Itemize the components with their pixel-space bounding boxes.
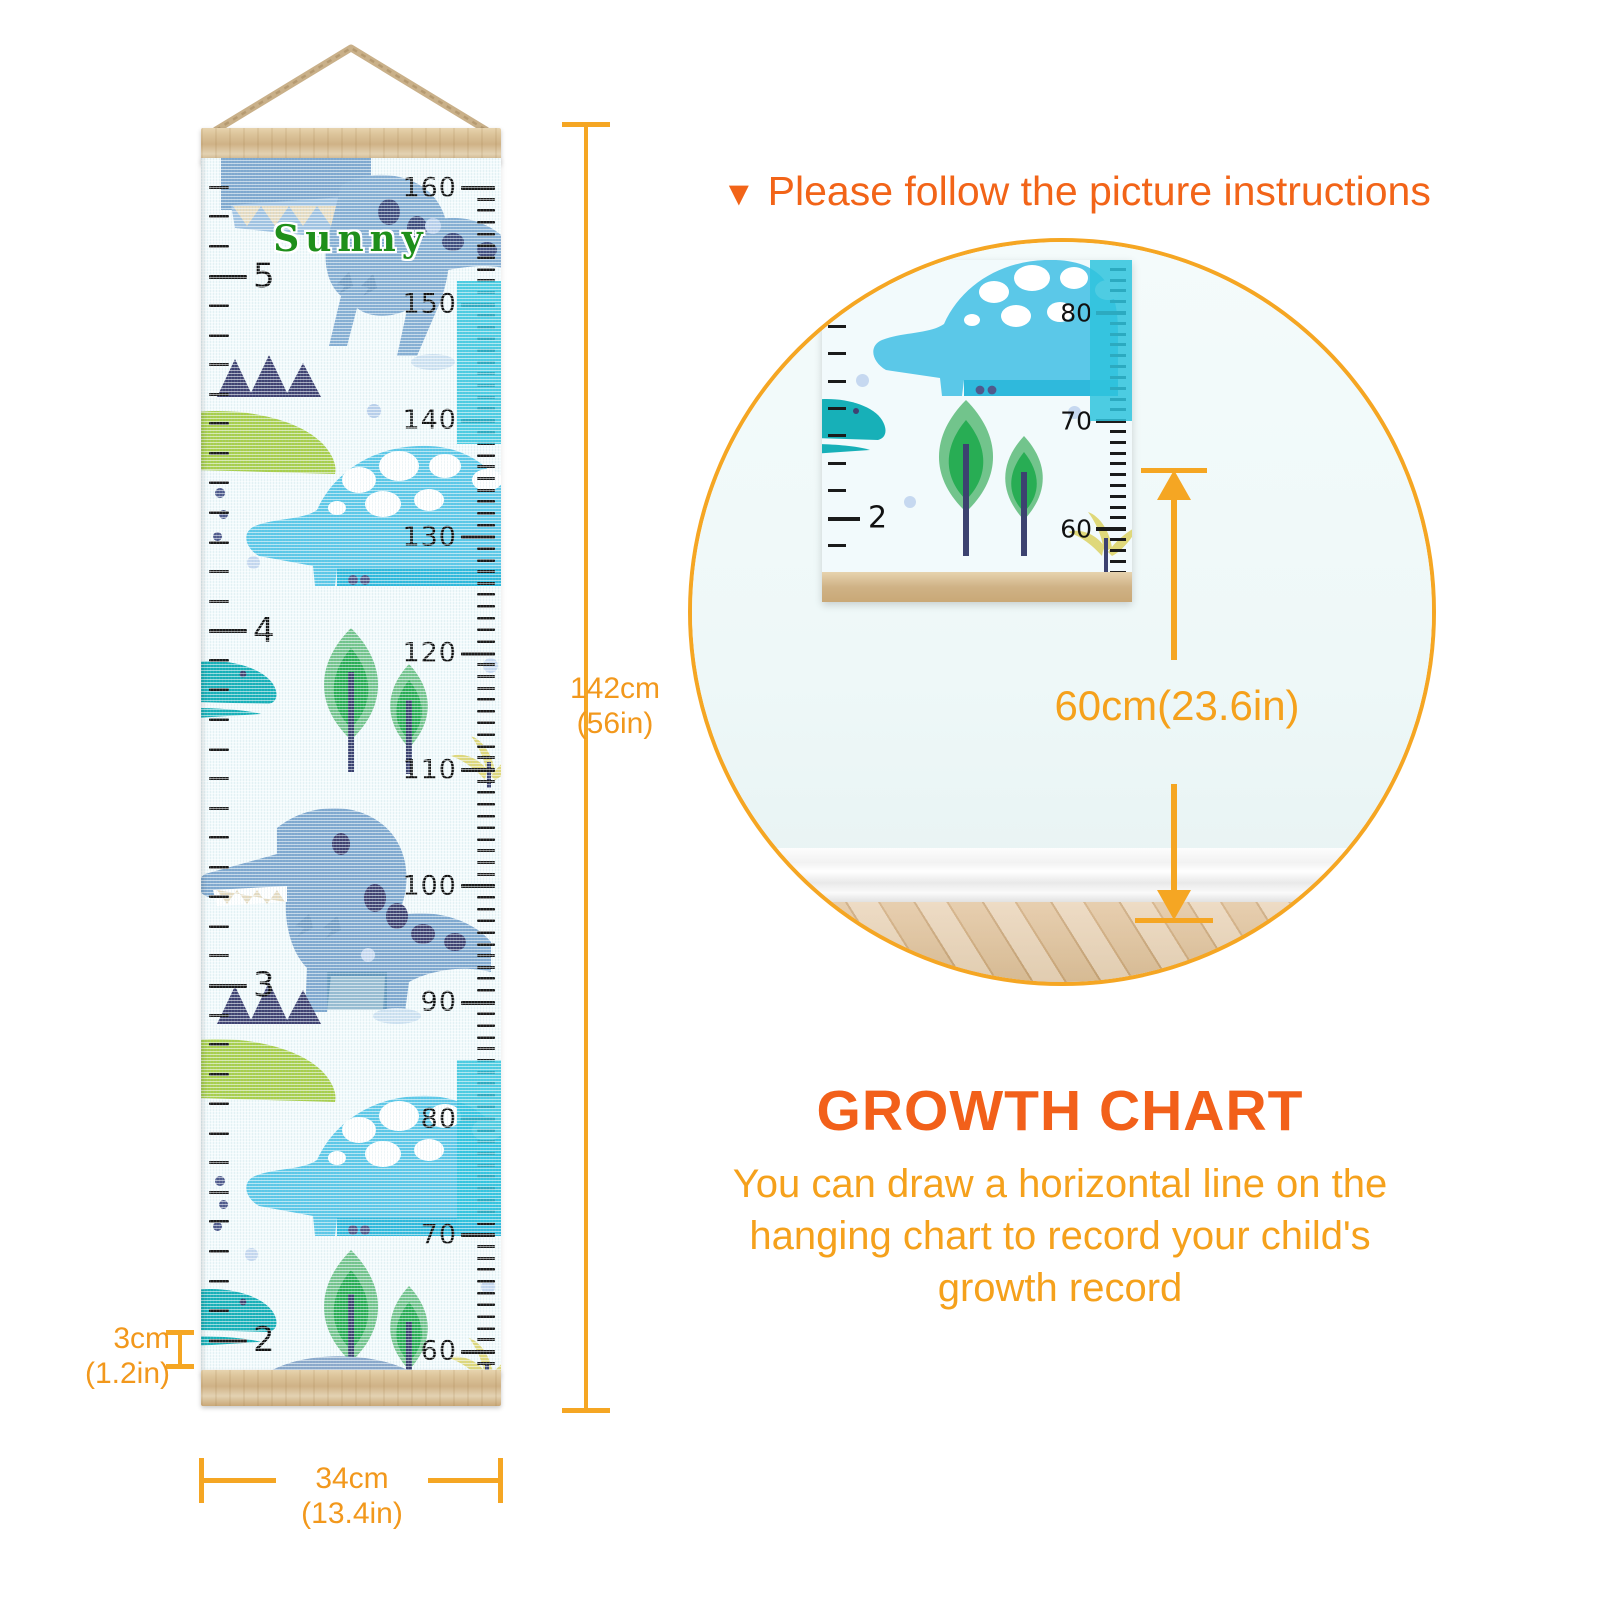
cm-tick-major [461,1233,495,1237]
inch-tick [828,380,846,383]
inch-tick [209,866,229,869]
ruler-teal-band [457,1060,501,1223]
inch-tick [209,600,229,603]
cm-tick-major [461,1350,495,1354]
cm-tick-minor [477,954,495,957]
cm-tick-minor [477,675,495,678]
cm-tick-minor [1110,516,1126,519]
decor-dot [361,948,375,962]
inch-tick [209,1102,229,1105]
growth-chart-canvas: Sunny 16015014013012011010090807060 5432 [201,158,501,1376]
inch-tick [209,452,229,455]
trees-art-inset [926,400,1056,570]
cm-tick-major [1096,527,1126,531]
inch-tick [209,363,229,366]
inch-tick [828,297,846,300]
cm-tick-minor [477,268,495,271]
cm-tick-minor [477,512,495,515]
feet-tick-major [209,1339,247,1343]
cm-tick-minor [477,1024,495,1027]
growth-chart-description: You can draw a horizontal line on the ha… [688,1158,1432,1314]
cm-tick-minor [477,721,495,724]
cm-label: 70 [421,1219,457,1250]
feet-tick-major [209,275,247,279]
cm-tick-minor [477,524,495,527]
inch-tick [209,1191,229,1194]
canvas-left-shadow [201,158,207,1376]
cm-tick-minor [477,745,495,748]
cm-tick-minor [477,1047,495,1050]
inch-tick [209,748,229,751]
inch-tick [209,393,229,396]
cm-ruler-inset: 807060 [1088,260,1132,602]
inch-tick [828,489,846,492]
inch-tick [828,270,846,273]
cm-tick-minor [477,593,495,596]
inch-tick [209,1220,229,1223]
inch-tick [209,334,229,337]
ruler-teal-band-inset [1090,260,1132,421]
feet-label: 5 [253,256,275,296]
cm-tick-minor [477,1315,495,1318]
width-dimension-label: 34cm (13.4in) [268,1462,436,1531]
feet-label-inset: 2 [868,501,887,536]
thickness-dimension-cap-top [166,1330,194,1335]
cm-tick-minor [477,582,495,585]
cm-tick-minor [1110,452,1126,455]
parquet-floor [692,902,1432,982]
cm-label: 150 [402,289,457,320]
inch-tick [828,352,846,355]
inch-tick [209,895,229,898]
cm-tick-minor [477,919,495,922]
inch-tick [209,304,229,307]
inch-tick [209,541,229,544]
cm-tick-minor [477,1012,495,1015]
inch-tick [828,462,846,465]
cm-tick-minor [477,198,495,201]
cm-label-inset: 60 [1060,514,1092,543]
cm-label: 60 [421,1336,457,1367]
cm-tick-minor [477,1280,495,1283]
cm-tick-minor [477,1292,495,1295]
cm-tick-minor [477,815,495,818]
cm-tick-minor [477,570,495,573]
inch-tick [209,659,229,662]
stegosaurus-art-inset [868,260,1118,404]
cm-label: 80 [421,1103,457,1134]
cm-tick-minor [477,477,495,480]
cm-tick-minor [477,756,495,759]
feet-ruler: 5432 [201,158,247,1376]
cm-tick-minor [477,628,495,631]
room-scene: 807060 2 60cm(23.6in) [692,242,1432,982]
cm-tick-minor [477,663,495,666]
cm-tick-minor [477,803,495,806]
inch-tick [828,325,846,328]
cm-tick-minor [477,791,495,794]
cm-tick-minor [477,966,495,969]
cm-label-inset: 80 [1060,298,1092,327]
inch-tick [209,807,229,810]
inch-tick [209,1073,229,1076]
inch-tick [209,688,229,691]
inch-tick [209,777,229,780]
growth-chart-title: GROWTH CHART [690,1078,1430,1144]
cm-tick-major [461,652,495,656]
inch-tick [209,925,229,928]
cm-tick-minor [477,209,495,212]
inch-tick [209,186,229,189]
feet-tick-major [209,629,247,633]
inch-tick [209,1014,229,1017]
cm-label: 160 [402,172,457,203]
cm-tick-minor [477,605,495,608]
height-dimension-line [584,122,588,1412]
baseboard [692,848,1432,904]
cm-tick-minor [477,733,495,736]
height-dimension-cap-bottom [562,1408,610,1413]
infographic-stage: Sunny 16015014013012011010090807060 5432… [0,0,1600,1600]
cm-tick-minor [477,1257,495,1260]
cm-tick-minor [477,1338,495,1341]
feet-ruler-inset: 2 [822,260,866,602]
instructions-headline: ▼Please follow the picture instructions [722,168,1532,215]
triangle-down-icon: ▼ [722,175,756,213]
inch-tick [209,954,229,957]
mount-arrow-head-down [1157,890,1191,920]
cm-tick-major [461,884,495,888]
inch-tick [209,1161,229,1164]
cm-tick-minor [477,640,495,643]
cm-label: 110 [402,754,457,785]
cm-tick-minor [477,559,495,562]
cm-label-inset: 70 [1060,406,1092,435]
inch-tick [828,544,846,547]
cm-label: 130 [402,521,457,552]
cm-tick-major [461,186,495,190]
cm-tick-minor [477,896,495,899]
mount-arrow-bottom-cap [1135,918,1213,923]
inch-tick [828,407,846,410]
cm-label: 120 [402,638,457,669]
cm-tick-minor [477,1303,495,1306]
cm-tick-minor [1110,495,1126,498]
decor-dot [904,496,916,508]
cm-tick-minor [477,1268,495,1271]
cm-tick-minor [477,977,495,980]
inch-tick [209,511,229,514]
inch-tick [209,570,229,573]
feet-label: 2 [253,1320,275,1360]
cm-tick-minor [477,1036,495,1039]
height-dimension-label: 142cm (56in) [530,672,700,741]
cm-tick-minor [477,943,495,946]
inch-tick [209,481,229,484]
cm-tick-minor [477,489,495,492]
cm-label: 90 [421,987,457,1018]
cm-tick-minor [477,500,495,503]
cm-tick-minor [477,849,495,852]
cm-tick-minor [477,931,495,934]
width-dimension-cap-right [498,1458,503,1503]
cm-tick-minor [1110,560,1126,563]
cm-tick-minor [1110,462,1126,465]
cm-tick-major [461,768,495,772]
cm-tick-minor [477,617,495,620]
cm-tick-minor [477,698,495,701]
cm-tick-minor [477,908,495,911]
mount-arrow-upper-shaft [1171,494,1177,660]
cm-tick-minor [477,710,495,713]
mount-height-label: 60cm(23.6in) [1002,682,1352,730]
cm-tick-minor [1110,506,1126,509]
rope-hanger-icon [206,40,496,132]
decor-dot [247,556,260,569]
cm-tick-minor [477,547,495,550]
thickness-dimension-cap-bottom [166,1364,194,1369]
mount-arrow-lower-shaft [1171,784,1177,906]
personalized-name: Sunny [201,218,501,260]
cm-label: 100 [402,870,457,901]
wood-bar-bottom [201,1370,501,1406]
inch-tick [209,1043,229,1046]
mounted-chart-preview: 807060 2 [822,260,1132,602]
inch-tick [828,434,846,437]
inch-tick [209,836,229,839]
thickness-dimension-line [178,1332,182,1368]
cm-tick-minor [477,838,495,841]
cm-tick-minor [477,873,495,876]
inch-tick [209,1280,229,1283]
cm-tick-minor [477,465,495,468]
cm-tick-major [461,535,495,539]
decor-dot [367,404,381,418]
cm-tick-minor [477,687,495,690]
cm-tick-minor [1110,430,1126,433]
cm-tick-minor [1110,549,1126,552]
inch-tick [209,1250,229,1253]
mount-arrow-head-up [1157,470,1191,500]
width-dimension-cap-left [199,1458,204,1503]
installation-illustration-circle: 807060 2 60cm(23.6in) [688,238,1436,986]
feet-label: 4 [253,611,275,651]
thickness-dimension-label: 3cm (1.2in) [20,1322,170,1391]
cm-tick-minor [477,780,495,783]
cm-tick-minor [477,1327,495,1330]
cm-tick-minor [1110,441,1126,444]
cm-label: 140 [402,405,457,436]
cm-tick-minor [477,1245,495,1248]
cm-tick-minor [1110,473,1126,476]
height-dimension-cap-top [562,122,610,127]
cm-tick-minor [477,1362,495,1365]
cm-tick-minor [1110,538,1126,541]
cm-tick-minor [477,989,495,992]
inch-tick [209,422,229,425]
feet-tick-major [828,517,860,521]
cm-tick-major [461,1001,495,1005]
cm-tick-minor [477,454,495,457]
ruler-teal-band [457,281,501,444]
wood-bar-inset [822,572,1132,602]
cm-tick-minor [477,861,495,864]
inch-tick [209,1309,229,1312]
feet-tick-major [209,984,247,988]
feet-label: 3 [253,965,275,1005]
inch-tick [209,1132,229,1135]
inch-tick [209,718,229,721]
product-photo: Sunny 16015014013012011010090807060 5432 [186,40,516,1440]
cm-tick-minor [477,826,495,829]
cm-tick-minor [1110,484,1126,487]
cm-ruler: 16015014013012011010090807060 [455,158,501,1376]
